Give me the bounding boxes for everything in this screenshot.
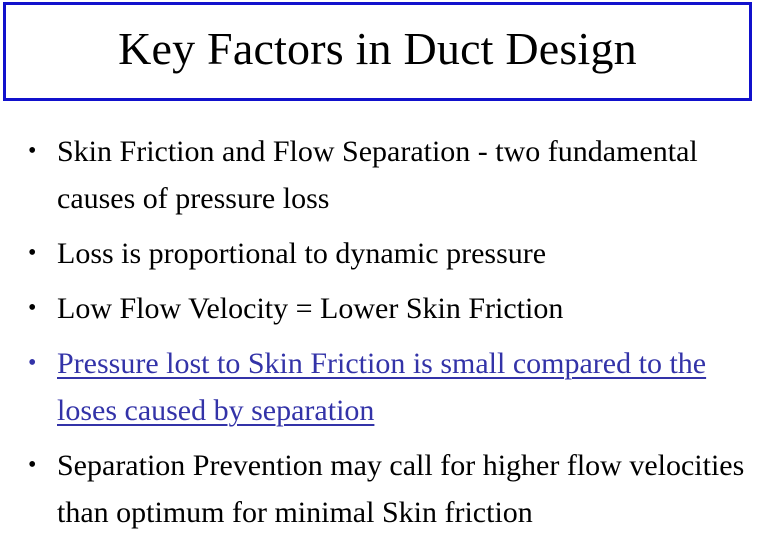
bullet-dot-icon: • — [28, 128, 48, 175]
bullet-dot-icon: • — [28, 285, 48, 332]
list-item-text: Skin Friction and Flow Separation - two … — [57, 128, 748, 222]
list-item-text: Separation Prevention may call for highe… — [57, 442, 748, 536]
list-item-hyperlink[interactable]: • Pressure lost to Skin Friction is smal… — [0, 340, 758, 434]
list-item-text: Loss is proportional to dynamic pressure — [57, 230, 748, 277]
title-box: Key Factors in Duct Design — [3, 2, 752, 101]
list-item-text: Low Flow Velocity = Lower Skin Friction — [57, 285, 748, 332]
bullet-dot-icon: • — [28, 340, 48, 387]
bullet-dot-icon: • — [28, 442, 48, 489]
slide: Key Factors in Duct Design • Skin Fricti… — [0, 0, 758, 552]
list-item: • Loss is proportional to dynamic pressu… — [0, 230, 758, 277]
list-item: • Separation Prevention may call for hig… — [0, 442, 758, 536]
hyperlink-text[interactable]: Pressure lost to Skin Friction is small … — [57, 340, 748, 434]
list-item: • Skin Friction and Flow Separation - tw… — [0, 128, 758, 222]
page-title: Key Factors in Duct Design — [118, 25, 637, 77]
list-item: • Low Flow Velocity = Lower Skin Frictio… — [0, 285, 758, 332]
bullet-dot-icon: • — [28, 230, 48, 277]
bullet-list: • Skin Friction and Flow Separation - tw… — [0, 128, 758, 536]
